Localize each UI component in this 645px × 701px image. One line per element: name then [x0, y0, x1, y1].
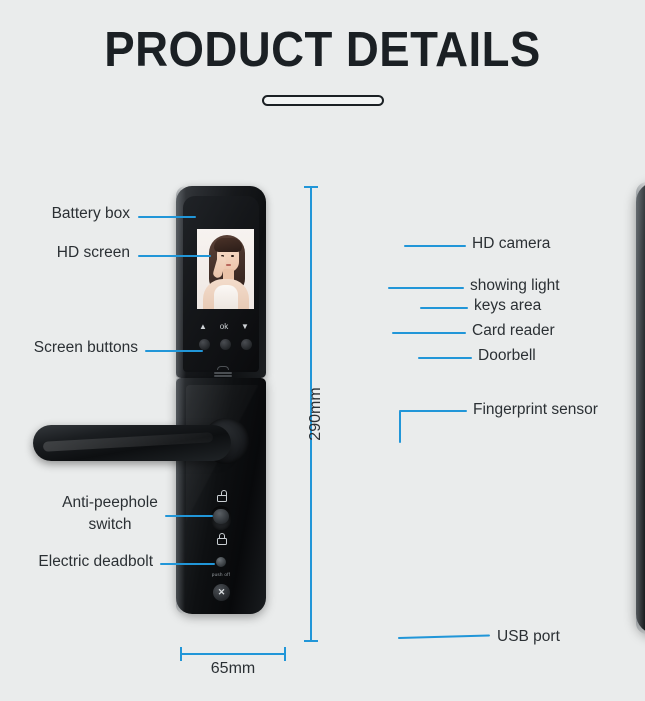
hd-screen-display [197, 229, 254, 309]
up-triangle-icon: ▲ [196, 323, 210, 331]
callout-label-usb-port: USB port [497, 627, 560, 648]
width-dimension-label: 65mm [180, 660, 286, 678]
anti-peephole-switch[interactable] [211, 506, 231, 530]
down-triangle-icon: ▼ [238, 323, 252, 331]
callout-label-screen-buttons: Screen buttons [10, 338, 138, 359]
anti-peephole-line1: Anti-peephole [62, 494, 158, 511]
screen-buttons-row[interactable] [197, 339, 254, 351]
speaker-grille-icon [214, 366, 232, 377]
product-details-infographic: PRODUCT DETAILS ▲ ok ▼ [0, 0, 645, 701]
callout-label-doorbell: Doorbell [478, 346, 536, 367]
electric-deadbolt-button[interactable] [216, 557, 226, 567]
height-dimension-label: 290mm [307, 381, 325, 447]
screen-button-ok[interactable] [220, 339, 231, 350]
width-dimension-line [180, 653, 286, 655]
callout-label-fingerprint-sensor: Fingerprint sensor [473, 400, 598, 421]
anti-peephole-line2: switch [88, 516, 131, 533]
push-off-label: push off [209, 572, 233, 577]
callout-label-hd-camera: HD camera [472, 234, 550, 255]
outdoor-housing [636, 182, 645, 634]
callout-label-battery-box: Battery box [20, 204, 130, 225]
visitor-portrait-image [197, 229, 254, 309]
outdoor-lock-panel-illustration: 1 2 3 4 5 6 7 8 9 * 0 [300, 0, 645, 701]
locked-padlock-icon [216, 533, 227, 545]
callout-label-electric-deadbolt: Electric deadbolt [10, 552, 153, 573]
callout-label-hd-screen: HD screen [20, 243, 130, 264]
callout-label-keys-area: keys area [474, 296, 541, 317]
ok-icon: ok [217, 323, 231, 331]
callout-label-showing-light: showing light [470, 276, 560, 297]
callout-label-card-reader: Card reader [472, 321, 555, 342]
screen-button-up[interactable] [199, 339, 210, 350]
callout-label-anti-peephole: Anti-peephole switch [40, 492, 180, 537]
unlocked-padlock-icon [216, 490, 227, 502]
reset-x-button[interactable]: ✕ [213, 584, 230, 601]
indoor-door-handle[interactable] [33, 425, 231, 461]
screen-button-down[interactable] [241, 339, 252, 350]
